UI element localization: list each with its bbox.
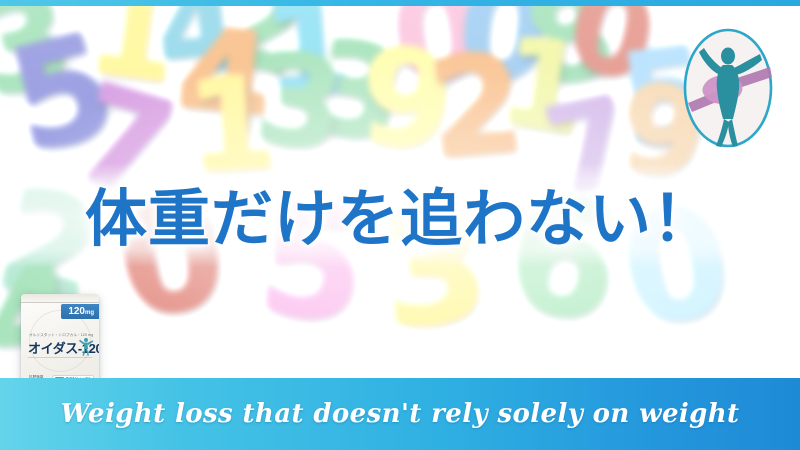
footer-bar: Weight loss that doesn't rely solely on …	[0, 378, 800, 450]
dose-value: 120	[68, 306, 85, 317]
banner-canvas: 3142413008921571305053602497 体重だけを追わない！	[0, 0, 800, 450]
dose-badge: 120mg	[61, 304, 99, 319]
top-accent-bar	[0, 0, 800, 6]
dose-unit: mg	[85, 310, 94, 316]
background-number: 3	[249, 39, 349, 163]
package-figure-icon	[78, 336, 94, 356]
dancing-figure-ribbon-logo	[682, 27, 774, 149]
footer-caption: Weight loss that doesn't rely solely on …	[0, 378, 800, 450]
page-title: 体重だけを追わない！	[0, 168, 800, 258]
package-divider	[28, 357, 92, 358]
package-top-edge	[21, 294, 99, 303]
